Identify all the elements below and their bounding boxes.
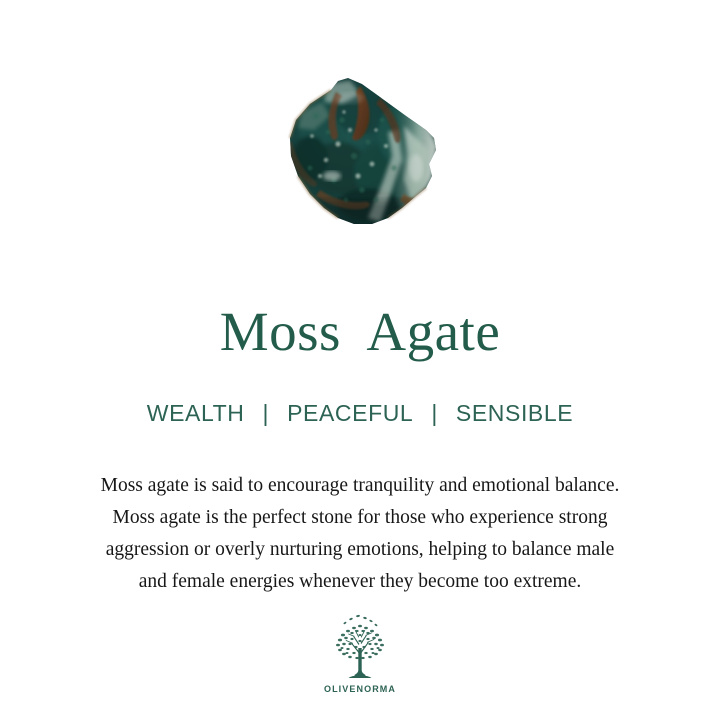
keyword-strip: WEALTH | PEACEFUL | SENSIBLE xyxy=(0,398,720,428)
page-title: Moss Agate xyxy=(0,300,720,364)
keyword-sensible: SENSIBLE xyxy=(454,398,575,428)
description-line: aggression or overly nurturing emotions,… xyxy=(40,534,680,566)
keyword-separator: | xyxy=(415,398,454,428)
brand-name: OLIVENORMA xyxy=(324,684,396,694)
description-text: Moss agate is said to encourage tranquil… xyxy=(40,470,680,598)
description-line: and female energies whenever they become… xyxy=(40,566,680,598)
description-line: Moss agate is said to encourage tranquil… xyxy=(40,470,680,502)
keyword-separator: | xyxy=(247,398,286,428)
tree-of-life-icon xyxy=(324,612,396,682)
keyword-peaceful: PEACEFUL xyxy=(285,398,415,428)
brand-logo: OLIVENORMA xyxy=(0,612,720,694)
moss-agate-stone-icon xyxy=(276,72,444,232)
product-info-card: Moss Agate WEALTH | PEACEFUL | SENSIBLE … xyxy=(0,0,720,720)
stone-image-container xyxy=(0,72,720,252)
description-line: Moss agate is the perfect stone for thos… xyxy=(40,502,680,534)
keyword-wealth: WEALTH xyxy=(145,398,247,428)
